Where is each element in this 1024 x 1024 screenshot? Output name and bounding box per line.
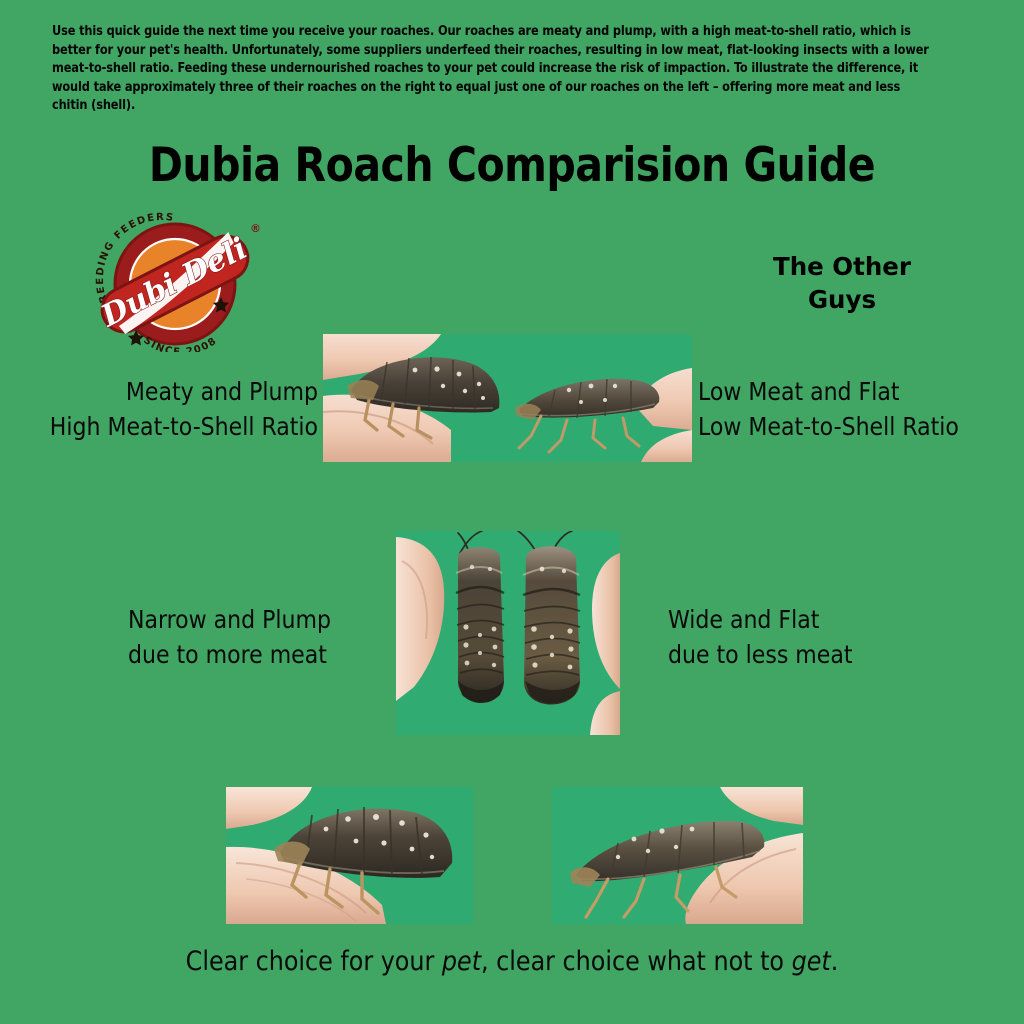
tagline: Clear choice for your pet, clear choice … [0,946,1024,977]
intro-paragraph: Use this quick guide the next time you r… [52,22,934,115]
tagline-part2: , clear choice what not to [481,946,792,977]
other-guys-heading: The Other Guys [742,250,942,316]
poster-canvas: Use this quick guide the next time you r… [0,0,1024,1024]
tagline-part1: Clear choice for your [186,946,442,977]
caption-row2-right: Wide and Flat due to less meat [668,602,928,672]
caption-row2-left: Narrow and Plump due to more meat [128,602,378,672]
photo-side-view-pair [323,334,692,462]
caption-row1-right-line1: Low Meat and Flat [698,374,1018,409]
roach-wide-top [523,546,580,704]
caption-row1-left: Meaty and Plump High Meat-to-Shell Ratio [8,374,318,444]
photo-bottom-flat-roach [552,787,803,924]
tagline-emphasis-pet: pet [442,946,481,977]
photo-bottom-plump-roach-graphic [226,787,473,924]
logo-registered-icon: ® [250,222,261,235]
photo-top-view-pair-graphic [396,531,620,735]
caption-row1-left-line1: Meaty and Plump [8,374,318,409]
brand-logo: BREEDING FEEDERS SINCE 2008 Dubi Deli ® [80,212,270,352]
caption-row2-right-line1: Wide and Flat [668,602,928,637]
caption-row1-right: Low Meat and Flat Low Meat-to-Shell Rati… [698,374,1018,444]
caption-row2-right-line2: due to less meat [668,637,928,672]
photo-top-view-pair [396,531,620,735]
other-guys-line2: Guys [742,283,942,316]
tagline-part3: . [831,946,839,977]
caption-row2-left-line1: Narrow and Plump [128,602,378,637]
caption-row1-right-line2: Low Meat-to-Shell Ratio [698,409,1018,444]
roach-narrow-top [456,547,504,703]
tagline-emphasis-get: get [792,946,831,977]
caption-row1-left-line2: High Meat-to-Shell Ratio [8,409,318,444]
logo-graphic: BREEDING FEEDERS SINCE 2008 Dubi Deli ® [80,212,270,352]
photo-side-view-pair-graphic [323,334,692,462]
page-title: Dubia Roach Comparision Guide [15,138,1008,193]
other-guys-line1: The Other [742,250,942,283]
photo-bottom-flat-roach-graphic [552,787,803,924]
caption-row2-left-line2: due to more meat [128,637,378,672]
photo-bottom-plump-roach [226,787,473,924]
